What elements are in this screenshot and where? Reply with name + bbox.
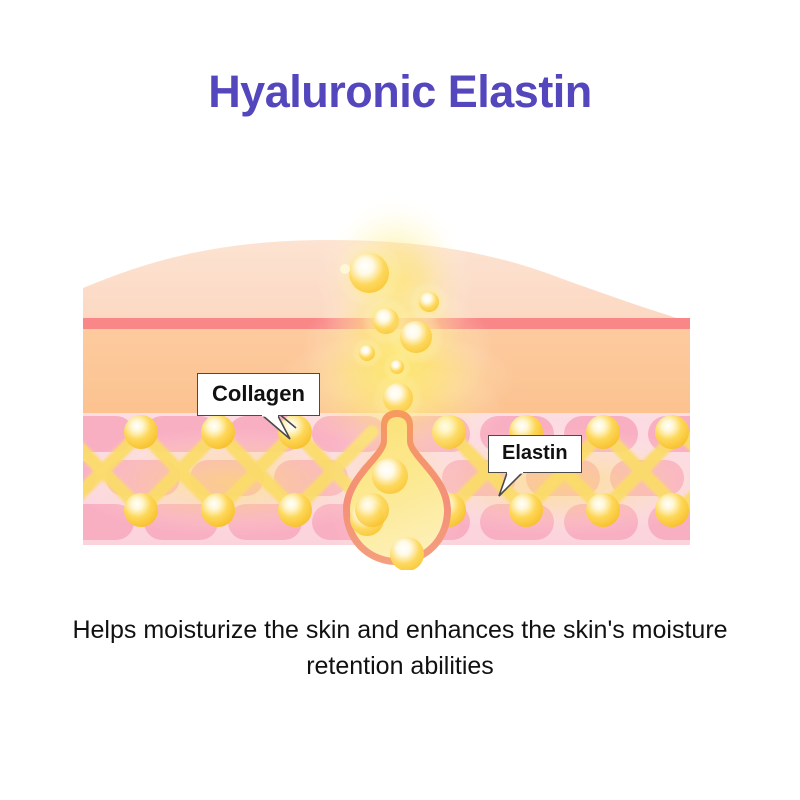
label-elastin-text: Elastin [502,442,568,464]
infographic-canvas: Hyaluronic Elastin [0,0,800,800]
label-collagen[interactable]: Collagen [197,373,320,416]
elastin-callout-tail [497,472,529,498]
skin-cross-section-svg [0,110,800,570]
page-caption: Helps moisturize the skin and enhances t… [40,613,760,684]
label-elastin[interactable]: Elastin [488,435,582,473]
collagen-callout-tail [260,415,294,441]
skin-diagram [0,110,800,570]
droplet-base-sphere [355,493,389,527]
label-collagen-text: Collagen [212,381,305,406]
